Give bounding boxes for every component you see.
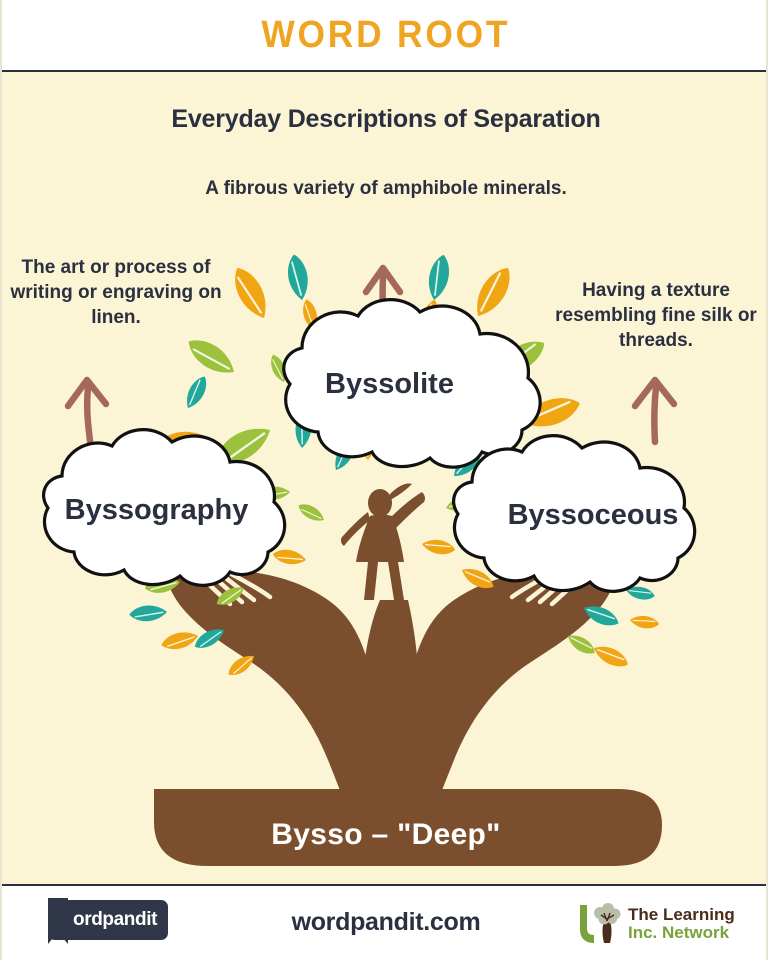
arrow-up-left (68, 380, 106, 441)
learning-network-logo[interactable]: The Learning Inc. Network (574, 900, 750, 948)
description-right: Having a texture resembling fine silk or… (547, 278, 765, 353)
child-silhouette (341, 483, 425, 600)
word-label-byssography: Byssography (14, 494, 299, 527)
partner-name-line2: Inc. Network (628, 924, 735, 942)
word-label-byssoceous: Byssoceous (464, 499, 722, 532)
tree-u-icon (574, 901, 624, 947)
learning-network-wordmark: The Learning Inc. Network (628, 906, 735, 943)
description-left: The art or process of writing or engravi… (4, 255, 228, 330)
footer-bar: ordpandit wordpandit.com (2, 884, 768, 960)
partner-name-line1: The Learning (628, 906, 735, 924)
tree-illustration (2, 0, 768, 890)
root-word-label: Bysso – "Deep" (2, 818, 768, 852)
infographic-page: WORD ROOT Everyday Descriptions of Separ… (0, 0, 768, 960)
word-label-byssolite: Byssolite (247, 368, 532, 401)
arrow-up-right (635, 380, 674, 442)
description-top: A fibrous variety of amphibole minerals. (191, 176, 581, 201)
